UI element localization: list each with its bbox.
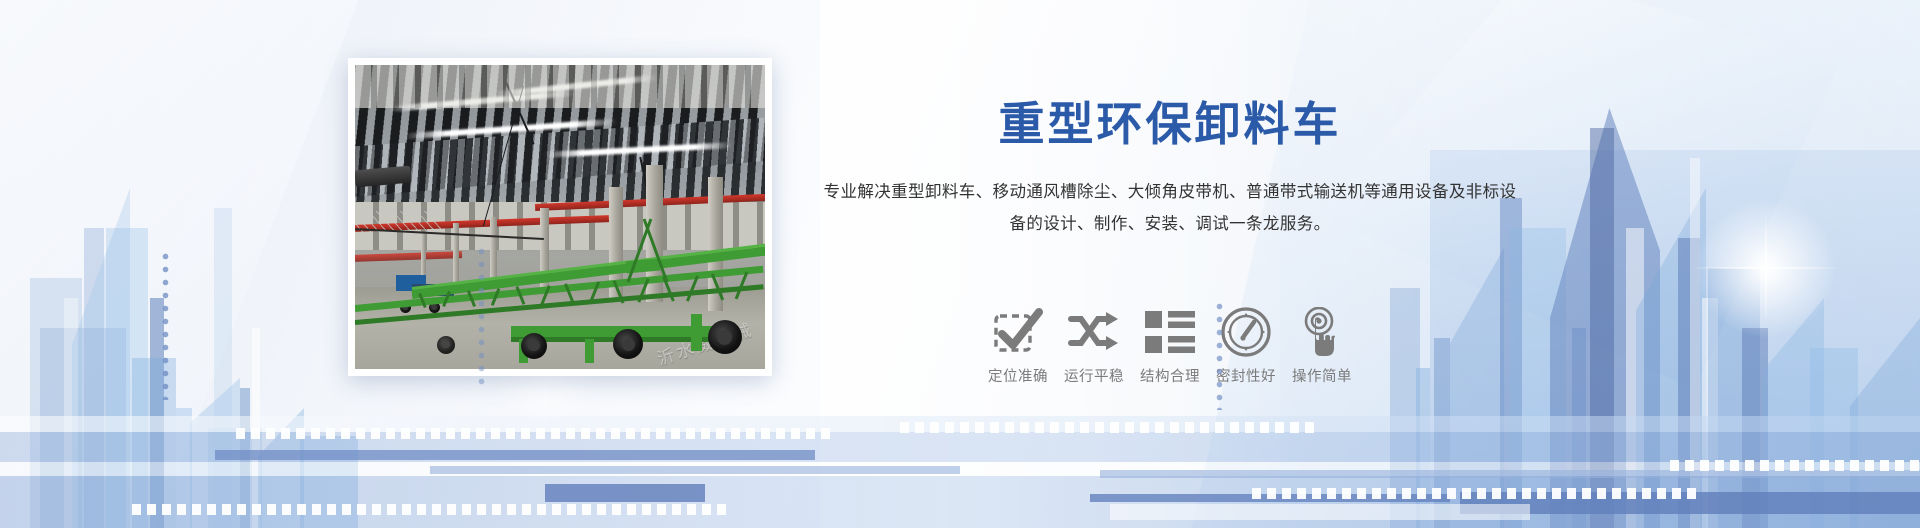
machine-wheel [437, 336, 455, 354]
decorative-bar [1110, 504, 1530, 520]
skyline-building [1762, 298, 1824, 528]
decorative-bar [0, 416, 1920, 432]
decorative-bar [1460, 492, 1920, 514]
skyline-building [84, 228, 104, 528]
check-box-icon [980, 305, 1056, 359]
skyline-building [1450, 248, 1504, 528]
skyline-building [1742, 328, 1768, 528]
shuffle-icon [1056, 305, 1132, 359]
skyline-building [258, 408, 304, 528]
skyline-building [252, 328, 260, 528]
skyline-building [0, 268, 28, 528]
skyline-building [190, 378, 240, 528]
skyline-building [1540, 278, 1574, 528]
decorative-bar [215, 450, 815, 460]
decorative-dot-row [132, 504, 732, 515]
feature-item-3[interactable]: 结构合理 [1132, 305, 1208, 386]
background-polygon-2 [1180, 0, 1920, 528]
skyline-building [72, 188, 130, 528]
list-blocks-icon [1132, 305, 1208, 359]
skyline-building [1850, 318, 1920, 528]
skyline-building [64, 298, 78, 528]
feature-label: 运行平稳 [1056, 365, 1132, 386]
skyline-building [1590, 128, 1614, 528]
skyline-building [1416, 368, 1430, 528]
feature-label: 结构合理 [1132, 365, 1208, 386]
decorative-dot-row [900, 422, 1320, 433]
decorative-dot-column [1216, 300, 1223, 410]
chassis-leg [585, 339, 594, 363]
product-photo: 沂水威机械 [355, 65, 765, 369]
skyline-building [1572, 328, 1586, 528]
skyline-building [40, 328, 126, 528]
feature-label: 定位准确 [980, 365, 1056, 386]
skyline-building [106, 228, 148, 528]
background-white-wash [820, 0, 1280, 528]
skyline-building [1636, 188, 1706, 528]
skyline-building [1678, 238, 1700, 528]
hand-touch-icon [1284, 305, 1360, 359]
decorative-dot-column [162, 250, 169, 400]
decorative-bar [430, 466, 960, 474]
skyline-building [1626, 228, 1644, 528]
banner-text-block: 重型环保卸料车 专业解决重型卸料车、移动通风槽除尘、大倾角皮带机、普通带式输送机… [820, 96, 1520, 240]
decorative-bar [1100, 470, 1920, 478]
far-wall [355, 65, 765, 108]
skyline-building [132, 358, 176, 528]
page-title: 重型环保卸料车 [820, 96, 1520, 154]
background-skyline-left [0, 128, 360, 528]
chassis-leg [691, 314, 702, 350]
skyline-building [104, 308, 148, 528]
feature-list: 定位准确 运行平稳 结构合理 密封性好 操作简单 [820, 305, 1520, 386]
support-pillar [453, 223, 459, 284]
decorative-bar [1090, 494, 1450, 502]
skyline-building [1702, 298, 1718, 528]
decorative-dot-row [236, 428, 836, 439]
decorative-bar [0, 462, 1920, 476]
hero-banner: 沂水威机械 重型环保卸料车 专业解决重型卸料车、移动通风槽除尘、大倾角皮带机、普… [0, 0, 1920, 528]
light-flare-right [1686, 188, 1846, 348]
skyline-building [214, 208, 232, 528]
decorative-dot-row [1670, 460, 1920, 471]
skyline-building [1690, 158, 1700, 528]
skyline-building [208, 428, 262, 528]
skyline-building [240, 388, 250, 528]
skyline-building [300, 436, 358, 528]
machine-wheel [708, 320, 742, 354]
decorative-dot-row [1252, 488, 1702, 499]
decorative-bar [0, 432, 1920, 462]
feature-label: 操作简单 [1284, 365, 1360, 386]
decorative-dot-column [478, 245, 485, 385]
product-photo-card[interactable]: 沂水威机械 [348, 58, 772, 376]
skyline-building [176, 408, 192, 528]
decorative-bar [545, 484, 705, 502]
skyline-building [30, 278, 82, 528]
feature-item-5[interactable]: 操作简单 [1284, 305, 1360, 386]
decorative-bar [0, 476, 1920, 528]
feature-item-1[interactable]: 定位准确 [980, 305, 1056, 386]
feature-item-2[interactable]: 运行平稳 [1056, 305, 1132, 386]
skyline-building [1708, 268, 1760, 528]
banner-description: 专业解决重型卸料车、移动通风槽除尘、大倾角皮带机、普通带式输送机等通用设备及非标… [820, 176, 1520, 240]
support-pillar [490, 217, 497, 284]
skyline-building [1550, 108, 1660, 528]
machine-wheel [521, 333, 547, 359]
skyline-building [1810, 348, 1858, 528]
